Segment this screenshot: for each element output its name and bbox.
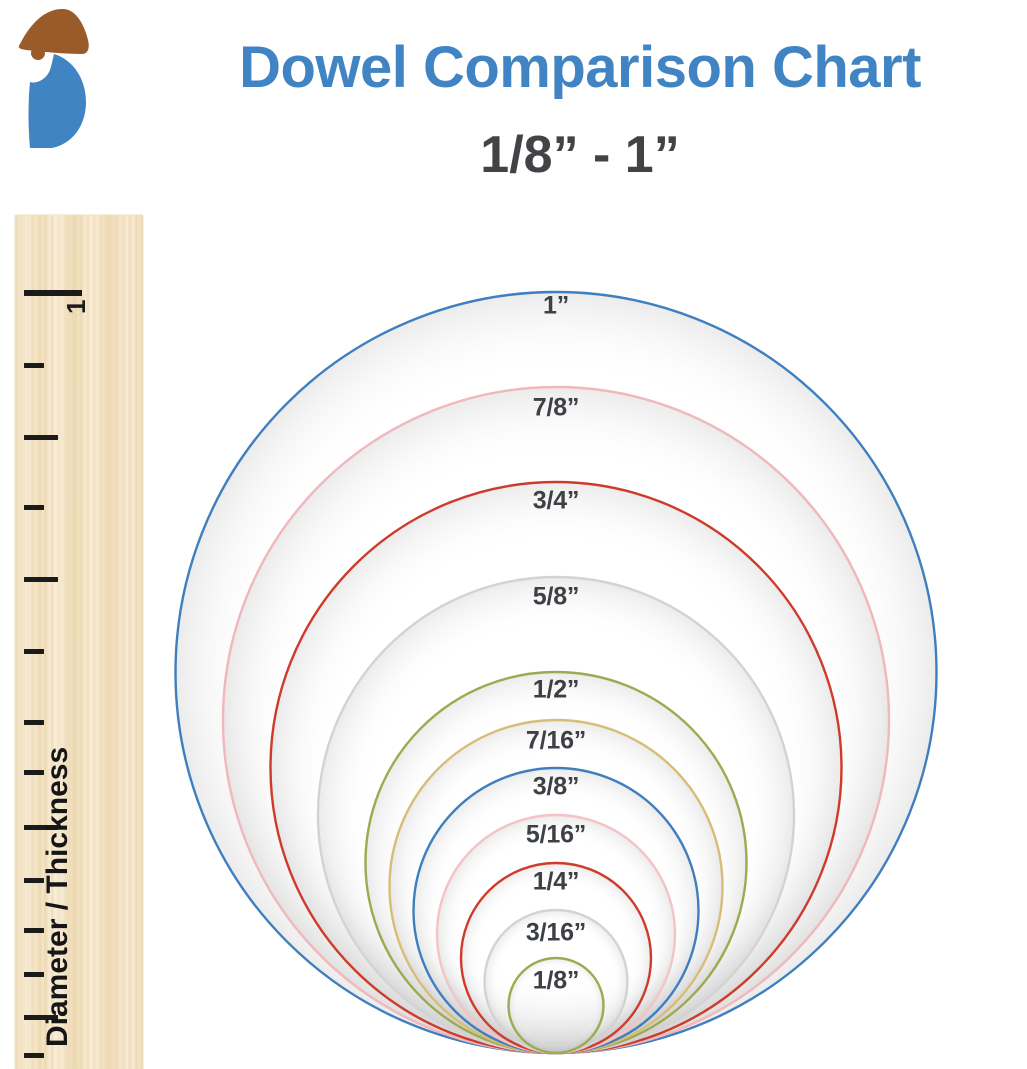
- ruler-tick-minor: [24, 720, 44, 725]
- page-subtitle: 1/8” - 1”: [140, 128, 1020, 183]
- dowel-size-label: 5/8”: [533, 583, 579, 612]
- dowel-size-label: 7/8”: [533, 394, 579, 423]
- dowel-size-label: 7/16”: [526, 727, 586, 756]
- dowel-size-label: 5/16”: [526, 821, 586, 850]
- ruler-tick-minor: [24, 505, 44, 510]
- dowel-size-label: 1/8”: [533, 967, 579, 996]
- dowel-size-label: 3/8”: [533, 773, 579, 802]
- y-axis-label: Diameter / Thickness: [41, 747, 75, 1047]
- ruler-tick-minor: [24, 363, 44, 368]
- ruler-tick-mid: [24, 435, 58, 440]
- dowel-size-label: 1”: [543, 292, 569, 321]
- logo-eye-dot: [31, 46, 45, 60]
- dowel-size-label: 1/4”: [533, 868, 579, 897]
- dowel-size-label: 3/16”: [526, 919, 586, 948]
- woodpecker-bird-logo: [14, 6, 96, 152]
- dowel-circle-shade-0.375: [414, 768, 699, 1053]
- dowel-size-label: 1/2”: [533, 676, 579, 705]
- wooden-ruler: 1 Diameter / Thickness: [15, 215, 143, 1069]
- logo-body-shape: [29, 54, 87, 148]
- dowel-comparison-chart-page: Dowel Comparison Chart 1/8” - 1” 1 Diame…: [0, 0, 1027, 1069]
- page-title: Dowel Comparison Chart: [140, 38, 1020, 99]
- dowel-size-label: 3/4”: [533, 487, 579, 516]
- ruler-tick-minor: [24, 1053, 44, 1058]
- dowel-circle-0.375: [414, 768, 699, 1053]
- ruler-unit-label: 1: [61, 274, 92, 314]
- ruler-tick-mid: [24, 577, 58, 582]
- ruler-tick-minor: [24, 649, 44, 654]
- logo-beak-shape: [19, 9, 89, 54]
